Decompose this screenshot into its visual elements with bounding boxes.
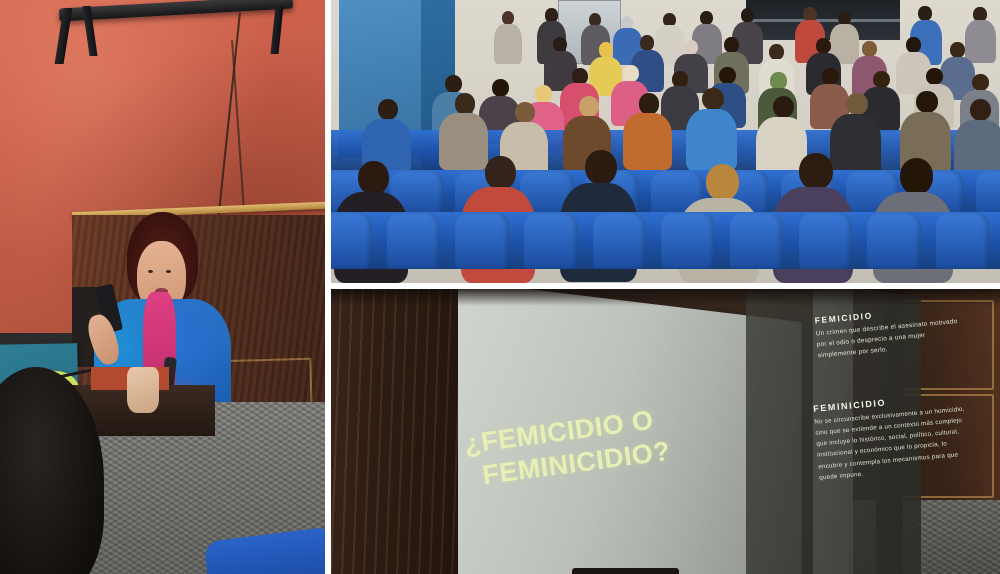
collage-divider-horizontal bbox=[331, 283, 1000, 289]
slide-block-feminicidio-body: No se circunscribe exclusivamente a un h… bbox=[814, 404, 973, 484]
speaker-eye-right bbox=[166, 270, 171, 273]
photo-collage: Q QUEPASAEN bbox=[0, 0, 1000, 574]
speaker-eye-left bbox=[148, 270, 153, 273]
photo-audience[interactable] bbox=[331, 0, 1000, 283]
seat-row-front bbox=[331, 212, 1000, 269]
screen-stand-foot bbox=[572, 568, 679, 574]
speaker-shoe bbox=[127, 367, 160, 413]
left-wood-column bbox=[331, 289, 458, 574]
photo-projection-slide[interactable]: ¿FEMICIDIO O FEMINICIDIO? FEMICIDIO Un c… bbox=[331, 289, 1000, 574]
ceiling-shadow bbox=[331, 289, 1000, 306]
photo-speaker[interactable]: Q QUEPASAEN bbox=[0, 0, 325, 574]
slide-block-feminicidio: FEMINICIDIO No se circunscribe exclusiva… bbox=[813, 391, 973, 484]
